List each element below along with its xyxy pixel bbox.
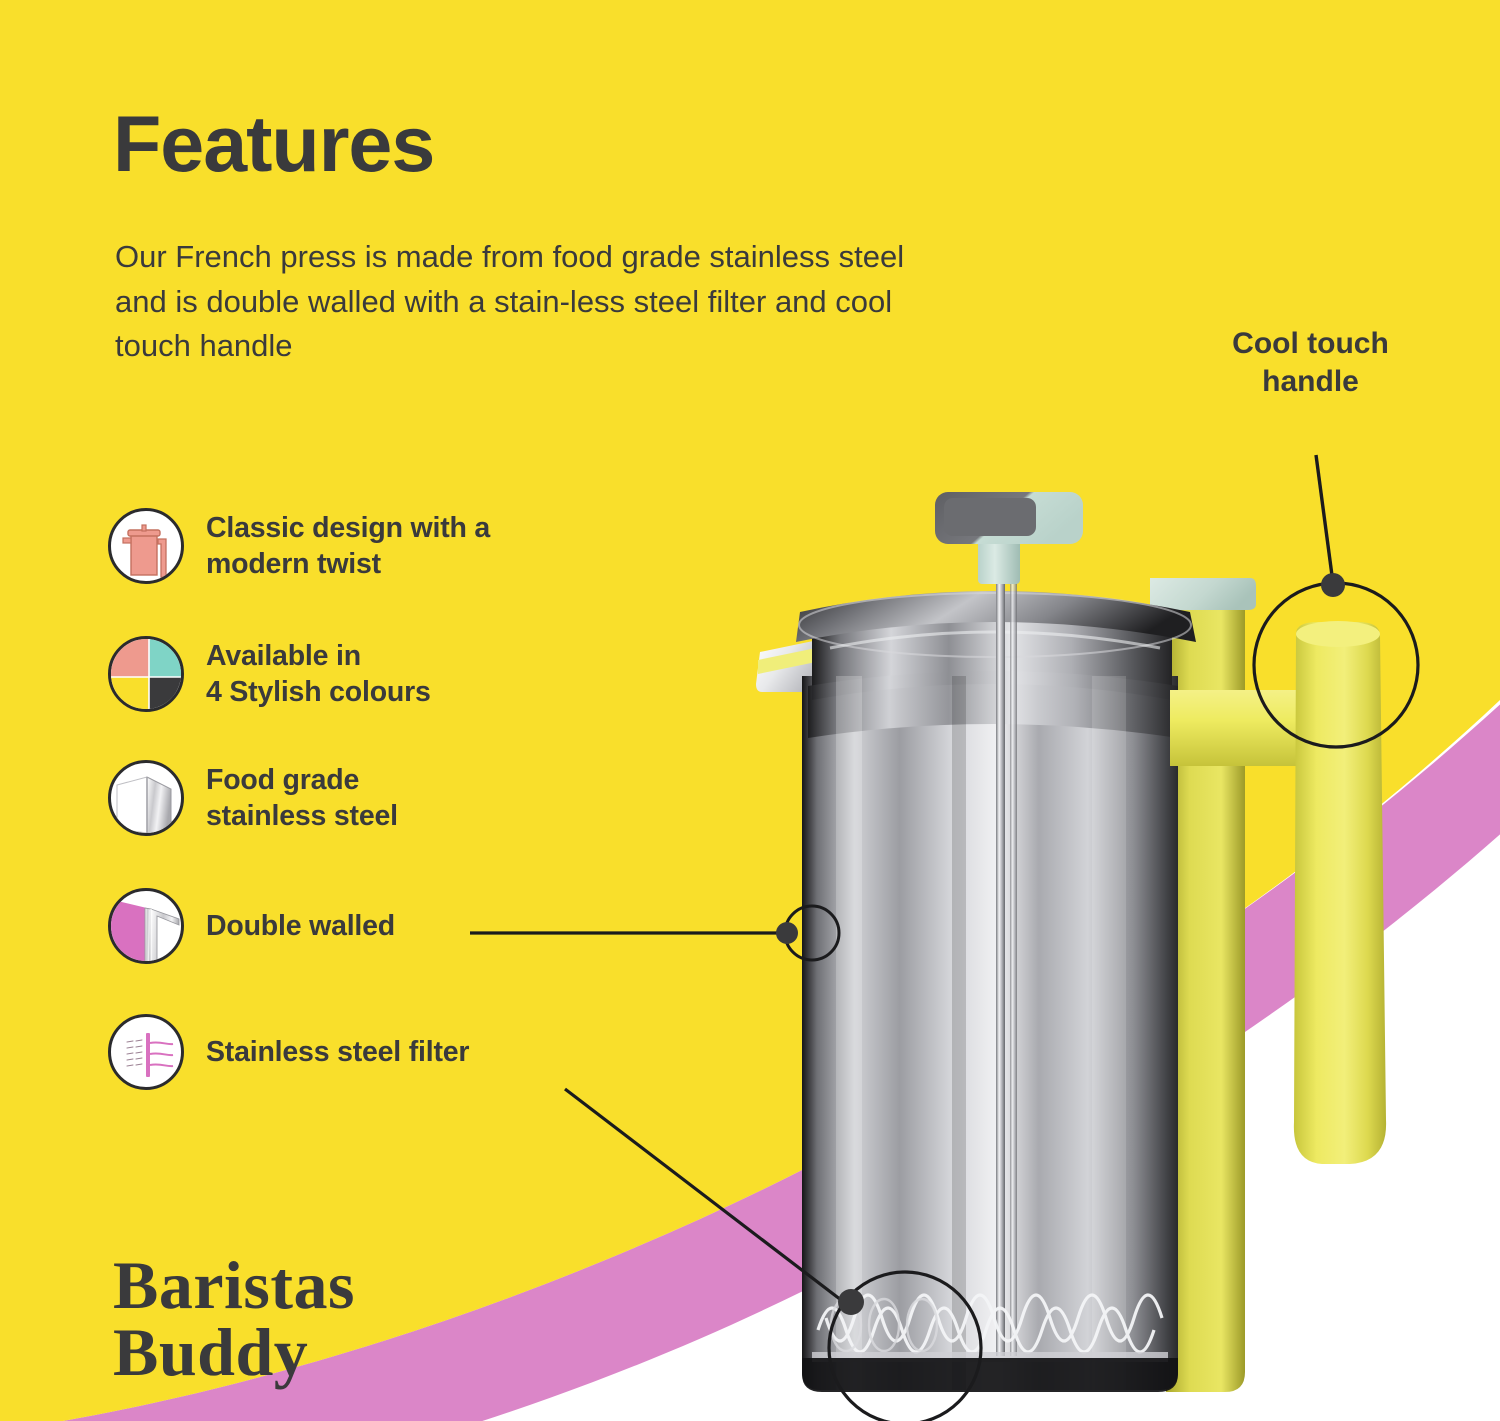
callout-cool-touch-handle: Cool touch handle: [1183, 325, 1438, 401]
infographic-canvas: Features Our French press is made from f…: [0, 0, 1500, 1421]
stainless-steel-filter-pointer: [565, 1089, 981, 1421]
brand-logo: Baristas Buddy: [113, 1252, 355, 1385]
double-walled-pointer: [470, 906, 839, 960]
callout-annotations: [0, 0, 1500, 1421]
cool-touch-handle-pointer: [1254, 455, 1418, 747]
